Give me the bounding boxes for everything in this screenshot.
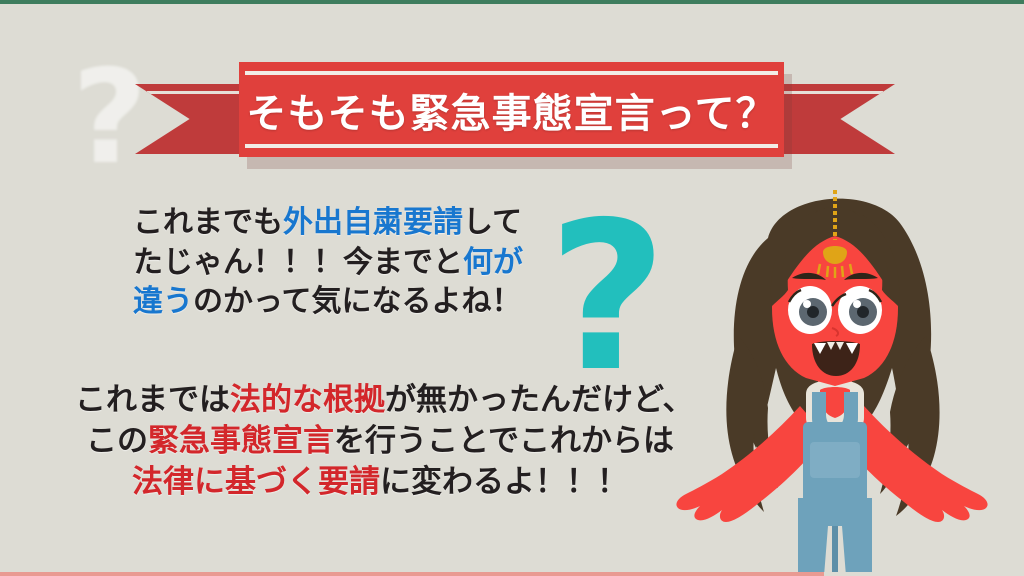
speech-text-block-2: これまでは法的な根拠が無かったんだけど、 この緊急事態宣言を行うことでこれからは… xyxy=(75,380,685,503)
character-illustration xyxy=(660,186,1010,576)
speech-run: たじゃん！！！今までと xyxy=(133,245,463,280)
bottom-edge-gap xyxy=(824,572,1024,576)
speech-run: を行うことでこれからは xyxy=(334,423,674,459)
scene-root: ? そもそも緊急事態宣言って？ ? これまでも外出自粛要請して たじゃん！！！今… xyxy=(0,0,1024,576)
speech-run: この xyxy=(86,423,148,459)
speech-run: のかって気になるよね！ xyxy=(193,284,522,319)
speech-run: これまでは xyxy=(75,382,230,418)
speech-run: 違う xyxy=(133,284,193,319)
speech-text-block-1: これまでも外出自粛要請して たじゃん！！！今までと何が 違うのかって気になるよね… xyxy=(133,203,523,322)
banner-center-panel: そもそも緊急事態宣言って？ xyxy=(239,62,784,157)
pupil-right xyxy=(857,306,869,318)
speech-run: 法的な根拠 xyxy=(230,382,385,418)
large-question-mark-icon: ? xyxy=(548,196,667,401)
speech-run: これまでも xyxy=(133,205,283,240)
speech-run: して xyxy=(463,205,522,240)
eye-highlight-right xyxy=(853,300,861,308)
speech-line: この緊急事態宣言を行うことでこれからは xyxy=(75,421,685,462)
speech-run: 緊急事態宣言 xyxy=(148,423,334,459)
banner-rule-bottom xyxy=(245,144,778,148)
speech-run: に変わるよ！！！ xyxy=(380,464,628,500)
speech-line: たじゃん！！！今までと何が xyxy=(133,243,523,283)
speech-run: 法律に基づく要請 xyxy=(132,464,380,500)
speech-line: これまでは法的な根拠が無かったんだけど、 xyxy=(75,380,685,421)
speech-line: これまでも外出自粛要請して xyxy=(133,203,523,243)
speech-run: が無かったんだけど、 xyxy=(385,382,693,418)
speech-run: 外出自粛要請 xyxy=(283,205,463,240)
speech-line: 違うのかって気になるよね！ xyxy=(133,282,523,322)
eye-highlight-left xyxy=(803,300,811,308)
page-title: そもそも緊急事態宣言って？ xyxy=(246,81,776,139)
title-banner: そもそも緊急事態宣言って？ xyxy=(135,62,895,166)
banner-rule-top xyxy=(245,71,778,75)
speech-line: 法律に基づく要請に変わるよ！！！ xyxy=(75,462,685,503)
speech-run: 何が xyxy=(463,245,523,280)
pupil-left xyxy=(807,306,819,318)
leg-gap xyxy=(832,526,838,576)
top-edge-strip xyxy=(0,0,1024,4)
overalls-pocket xyxy=(810,442,860,478)
